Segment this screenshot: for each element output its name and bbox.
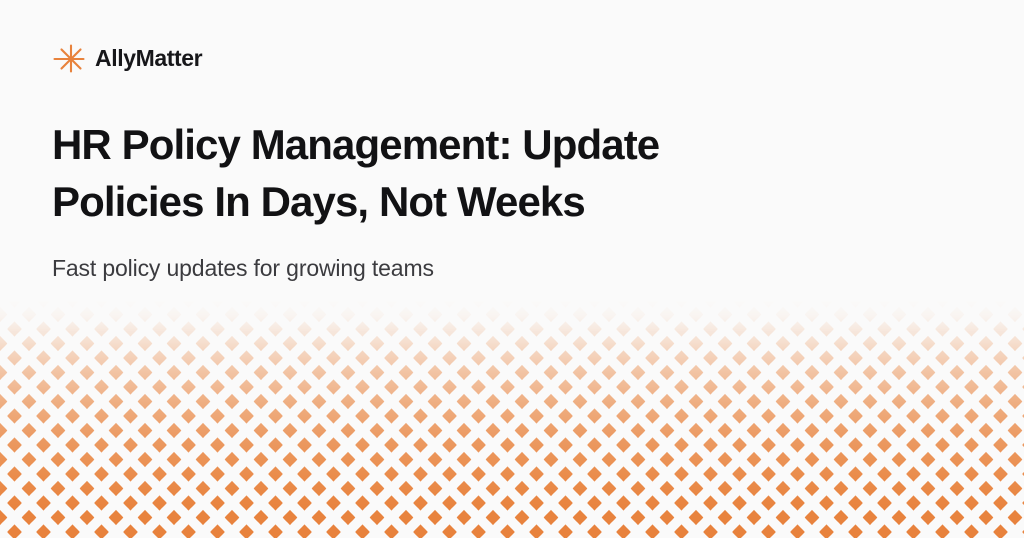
page-subtitle: Fast policy updates for growing teams — [52, 254, 972, 284]
page-title-line-1: HR Policy Management: Update — [52, 116, 772, 173]
page-title-line-2: Policies In Days, Not Weeks — [52, 173, 772, 230]
asterisk-starburst-icon — [52, 41, 86, 75]
brand-logo[interactable]: AllyMatter — [52, 40, 972, 76]
hero-content: AllyMatter HR Policy Management: Update … — [0, 0, 1024, 284]
quatrefoil-pattern-svg — [0, 300, 1024, 538]
decorative-pattern-band — [0, 300, 1024, 538]
brand-name: AllyMatter — [95, 47, 202, 70]
page-title: HR Policy Management: Update Policies In… — [52, 116, 772, 230]
